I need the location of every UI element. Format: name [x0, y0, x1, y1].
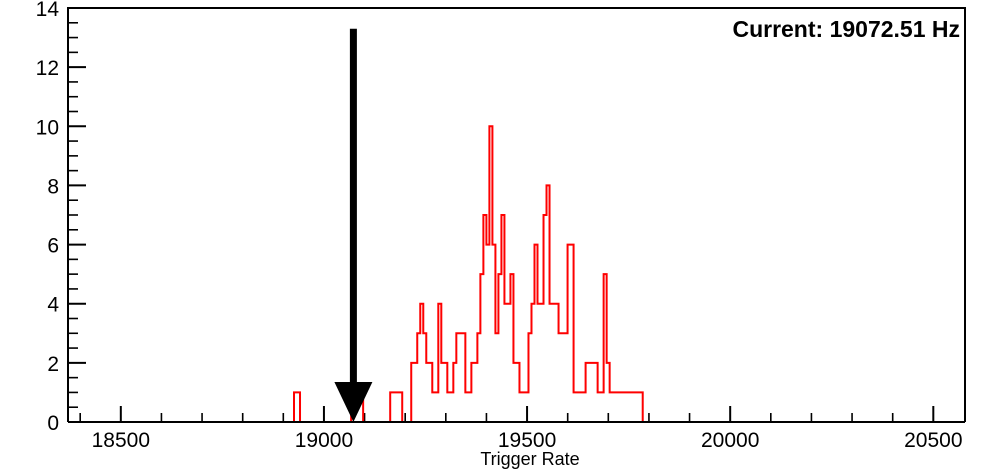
y-tick-label: 8	[47, 175, 59, 198]
plot-frame-lines	[68, 8, 965, 422]
y-tick-label: 0	[47, 412, 59, 435]
y-tick-label: 14	[36, 0, 60, 21]
x-tick-label: 20000	[701, 429, 759, 452]
x-axis-title: Trigger Rate	[480, 449, 579, 469]
histogram-series[interactable]	[68, 126, 965, 422]
x-tick-label: 19000	[295, 429, 353, 452]
x-tick-label: 20500	[904, 429, 962, 452]
histogram-svg[interactable]: 02468101214 1850019000195002000020500 Tr…	[0, 0, 996, 472]
y-tick-label: 6	[47, 235, 59, 258]
trigger-rate-plot-window: 02468101214 1850019000195002000020500 Tr…	[0, 0, 996, 472]
y-tick-label: 10	[36, 116, 59, 139]
y-tick-label: 4	[47, 294, 59, 317]
current-rate-arrow[interactable]	[334, 29, 372, 422]
histogram-outline[interactable]	[68, 126, 965, 422]
current-rate-status-text: Current: 19072.51 Hz	[732, 16, 960, 42]
y-axis-ticks	[68, 8, 86, 422]
y-tick-label: 12	[36, 57, 59, 80]
y-axis-tick-labels: 02468101214	[36, 0, 60, 435]
plot-canvas[interactable]: 02468101214 1850019000195002000020500 Tr…	[0, 0, 996, 472]
x-axis-ticks	[80, 406, 933, 422]
x-tick-label: 18500	[92, 429, 150, 452]
y-tick-label: 2	[47, 353, 59, 376]
arrow-head[interactable]	[334, 382, 372, 422]
plot-frame	[68, 8, 965, 422]
